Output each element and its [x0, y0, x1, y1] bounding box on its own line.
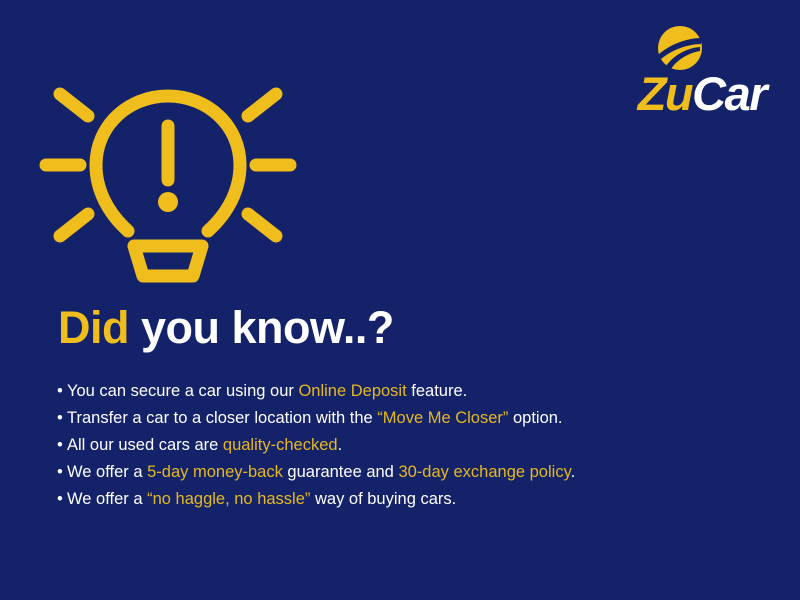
bullet-marker-icon: • [57, 459, 67, 486]
page-title-gold: Did [58, 302, 129, 353]
zucar-circle-swoosh-mark [656, 24, 704, 72]
logo-word-zu: Zu [638, 67, 692, 120]
list-item-highlight: quality-checked [223, 436, 338, 454]
list-item-highlight: 5-day money-back [147, 463, 283, 481]
list-item-text: We offer a [67, 463, 147, 481]
feature-bullet-list: •You can secure a car using our Online D… [57, 378, 757, 513]
list-item-text: guarantee and [283, 463, 399, 481]
page-title: Did you know..? [58, 303, 394, 353]
list-item-text: . [571, 463, 576, 481]
zucar-logo: ZuCar [576, 24, 766, 124]
bullet-marker-icon: • [57, 378, 67, 405]
list-item: •All our used cars are quality-checked. [57, 432, 757, 459]
list-item-text: . [338, 436, 343, 454]
page-title-white: you know..? [129, 302, 394, 353]
list-item: •You can secure a car using our Online D… [57, 378, 757, 405]
zucar-wordmark: ZuCar [638, 70, 766, 117]
list-item-text: way of buying cars. [310, 490, 456, 508]
list-item: •We offer a “no haggle, no hassle” way o… [57, 486, 757, 513]
bullet-marker-icon: • [57, 405, 67, 432]
list-item-highlight: 30-day exchange policy [398, 463, 570, 481]
list-item-text: You can secure a car using our [67, 382, 298, 400]
list-item-highlight: Online Deposit [298, 382, 406, 400]
list-item-highlight: “Move Me Closer” [377, 409, 508, 427]
list-item-text: All our used cars are [67, 436, 223, 454]
promo-slide: ZuCar Did you know..? •You can secure a … [0, 0, 800, 600]
lightbulb-exclamation-icon [38, 68, 298, 293]
list-item-text: We offer a [67, 490, 147, 508]
list-item-highlight: “no haggle, no hassle” [147, 490, 310, 508]
list-item: •Transfer a car to a closer location wit… [57, 405, 757, 432]
logo-word-car: Car [692, 67, 766, 120]
list-item-text: option. [508, 409, 562, 427]
bullet-marker-icon: • [57, 486, 67, 513]
list-item-text: feature. [407, 382, 468, 400]
list-item-text: Transfer a car to a closer location with… [67, 409, 377, 427]
list-item: •We offer a 5-day money-back guarantee a… [57, 459, 757, 486]
bullet-marker-icon: • [57, 432, 67, 459]
